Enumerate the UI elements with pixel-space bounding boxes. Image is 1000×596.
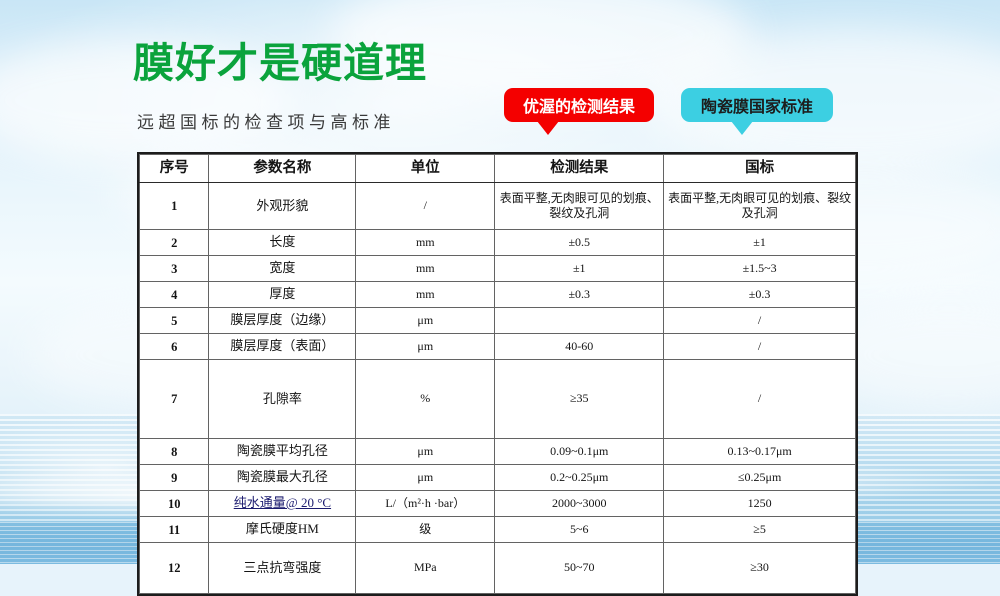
cell-index: 5 — [140, 308, 209, 334]
cell-test-result: ±1 — [495, 256, 664, 282]
cell-unit: μm — [356, 439, 495, 465]
cell-national-standard: ≥5 — [664, 517, 856, 543]
table-row: 11摩氏硬度HM级5~6≥5 — [140, 517, 856, 543]
cell-unit: μm — [356, 308, 495, 334]
callout-badge-result: 优渥的检测结果 — [504, 88, 654, 122]
spec-table-container: 序号 参数名称 单位 检测结果 国标 1外观形貌/表面平整,无肉眼可见的划痕、裂… — [137, 152, 858, 596]
cell-index: 2 — [140, 230, 209, 256]
cell-national-standard: ±0.3 — [664, 282, 856, 308]
table-row: 7孔隙率%≥35/ — [140, 360, 856, 439]
cell-test-result: 表面平整,无肉眼可见的划痕、裂纹及孔洞 — [495, 183, 664, 230]
cell-test-result — [495, 308, 664, 334]
cell-test-result: 50~70 — [495, 543, 664, 594]
cell-param-name: 孔隙率 — [209, 360, 356, 439]
table-row: 12三点抗弯强度MPa50~70≥30 — [140, 543, 856, 594]
cell-test-result: ±0.5 — [495, 230, 664, 256]
cell-unit: L/（m²·h ·bar） — [356, 491, 495, 517]
cell-national-standard: / — [664, 308, 856, 334]
table-row: 10纯水通量@ 20 °CL/（m²·h ·bar）2000~30001250 — [140, 491, 856, 517]
col-header-unit: 单位 — [356, 155, 495, 183]
cell-test-result: 0.2~0.25μm — [495, 465, 664, 491]
cell-unit: 级 — [356, 517, 495, 543]
cell-unit: mm — [356, 230, 495, 256]
cell-index: 9 — [140, 465, 209, 491]
cell-param-name: 长度 — [209, 230, 356, 256]
cell-param-name: 陶瓷膜最大孔径 — [209, 465, 356, 491]
col-header-result: 检测结果 — [495, 155, 664, 183]
col-header-param: 参数名称 — [209, 155, 356, 183]
cell-index: 12 — [140, 543, 209, 594]
table-row: 6膜层厚度（表面）μm40-60/ — [140, 334, 856, 360]
table-row: 3宽度mm±1±1.5~3 — [140, 256, 856, 282]
cell-test-result: 2000~3000 — [495, 491, 664, 517]
spec-table: 序号 参数名称 单位 检测结果 国标 1外观形貌/表面平整,无肉眼可见的划痕、裂… — [139, 154, 856, 594]
cell-param-name: 厚度 — [209, 282, 356, 308]
cell-national-standard: ±1.5~3 — [664, 256, 856, 282]
cell-national-standard: 1250 — [664, 491, 856, 517]
cell-unit: μm — [356, 465, 495, 491]
cell-index: 7 — [140, 360, 209, 439]
cell-index: 1 — [140, 183, 209, 230]
table-row: 8陶瓷膜平均孔径μm0.09~0.1μm0.13~0.17μm — [140, 439, 856, 465]
table-row: 9陶瓷膜最大孔径μm0.2~0.25μm≤0.25μm — [140, 465, 856, 491]
table-row: 2长度mm±0.5±1 — [140, 230, 856, 256]
cell-unit: μm — [356, 334, 495, 360]
page-title: 膜好才是硬道理 — [133, 43, 427, 84]
callout-pointer-icon — [537, 121, 559, 135]
col-header-index: 序号 — [140, 155, 209, 183]
page-subtitle: 远超国标的检查项与高标准 — [137, 108, 395, 133]
cell-national-standard: 表面平整,无肉眼可见的划痕、裂纹及孔洞 — [664, 183, 856, 230]
cell-index: 11 — [140, 517, 209, 543]
table-row: 5膜层厚度（边缘）μm/ — [140, 308, 856, 334]
cell-index: 10 — [140, 491, 209, 517]
callout-badge-result-label: 优渥的检测结果 — [523, 93, 635, 117]
cell-unit: % — [356, 360, 495, 439]
cell-index: 3 — [140, 256, 209, 282]
callout-badge-standard-label: 陶瓷膜国家标准 — [701, 93, 813, 117]
table-header-row: 序号 参数名称 单位 检测结果 国标 — [140, 155, 856, 183]
cell-unit: / — [356, 183, 495, 230]
cell-unit: MPa — [356, 543, 495, 594]
cell-test-result: ±0.3 — [495, 282, 664, 308]
cell-index: 8 — [140, 439, 209, 465]
cell-unit: mm — [356, 282, 495, 308]
cell-test-result: ≥35 — [495, 360, 664, 439]
table-row: 4厚度mm±0.3±0.3 — [140, 282, 856, 308]
cell-param-name: 纯水通量@ 20 °C — [209, 491, 356, 517]
cell-national-standard: ±1 — [664, 230, 856, 256]
cell-param-name: 外观形貌 — [209, 183, 356, 230]
callout-pointer-icon — [731, 121, 753, 135]
cell-index: 4 — [140, 282, 209, 308]
cell-test-result: 40-60 — [495, 334, 664, 360]
cell-national-standard: ≤0.25μm — [664, 465, 856, 491]
cell-param-name: 摩氏硬度HM — [209, 517, 356, 543]
cell-national-standard: / — [664, 360, 856, 439]
cell-param-name: 陶瓷膜平均孔径 — [209, 439, 356, 465]
table-row: 1外观形貌/表面平整,无肉眼可见的划痕、裂纹及孔洞表面平整,无肉眼可见的划痕、裂… — [140, 183, 856, 230]
cell-test-result: 0.09~0.1μm — [495, 439, 664, 465]
callout-badge-standard: 陶瓷膜国家标准 — [681, 88, 833, 122]
cell-national-standard: ≥30 — [664, 543, 856, 594]
cell-param-name: 三点抗弯强度 — [209, 543, 356, 594]
cell-national-standard: / — [664, 334, 856, 360]
cell-test-result: 5~6 — [495, 517, 664, 543]
cell-param-name: 膜层厚度（表面） — [209, 334, 356, 360]
col-header-standard: 国标 — [664, 155, 856, 183]
cell-unit: mm — [356, 256, 495, 282]
cell-index: 6 — [140, 334, 209, 360]
cell-param-name: 宽度 — [209, 256, 356, 282]
cell-national-standard: 0.13~0.17μm — [664, 439, 856, 465]
cell-param-name: 膜层厚度（边缘） — [209, 308, 356, 334]
